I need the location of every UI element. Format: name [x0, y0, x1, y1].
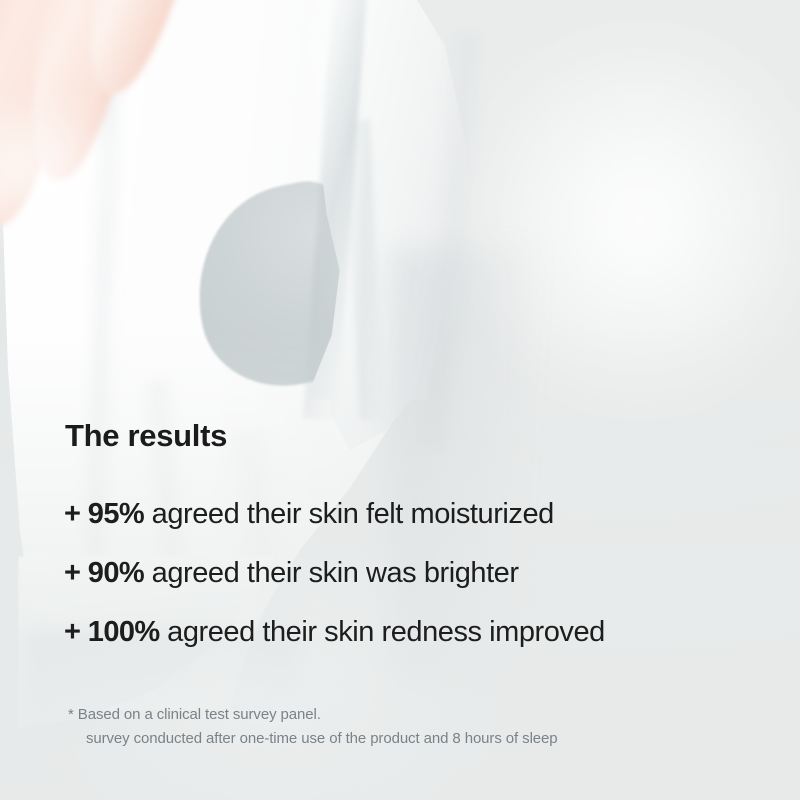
page-title: The results: [65, 418, 227, 454]
stat-value-1: + 95%: [64, 498, 144, 530]
stat-line-2: + 90% agreed their skin was brighter: [64, 557, 519, 590]
copy-block: The results + 95% agreed their skin felt…: [0, 0, 800, 800]
stat-line-1: + 95% agreed their skin felt moisturized: [64, 498, 554, 531]
footnote: * Based on a clinical test survey panel.…: [68, 703, 558, 751]
stat-text-1: agreed their skin felt moisturized: [144, 498, 554, 530]
stat-value-2: + 90%: [64, 557, 144, 589]
footnote-line-1: * Based on a clinical test survey panel.: [68, 703, 558, 727]
stat-line-3: + 100% agreed their skin redness improve…: [64, 616, 605, 649]
stat-value-3: + 100%: [64, 616, 160, 648]
footnote-line-2: survey conducted after one-time use of t…: [68, 727, 558, 751]
stat-text-3: agreed their skin redness improved: [160, 616, 605, 648]
product-results-graphic: The results + 95% agreed their skin felt…: [0, 0, 800, 800]
stat-text-2: agreed their skin was brighter: [144, 557, 519, 589]
